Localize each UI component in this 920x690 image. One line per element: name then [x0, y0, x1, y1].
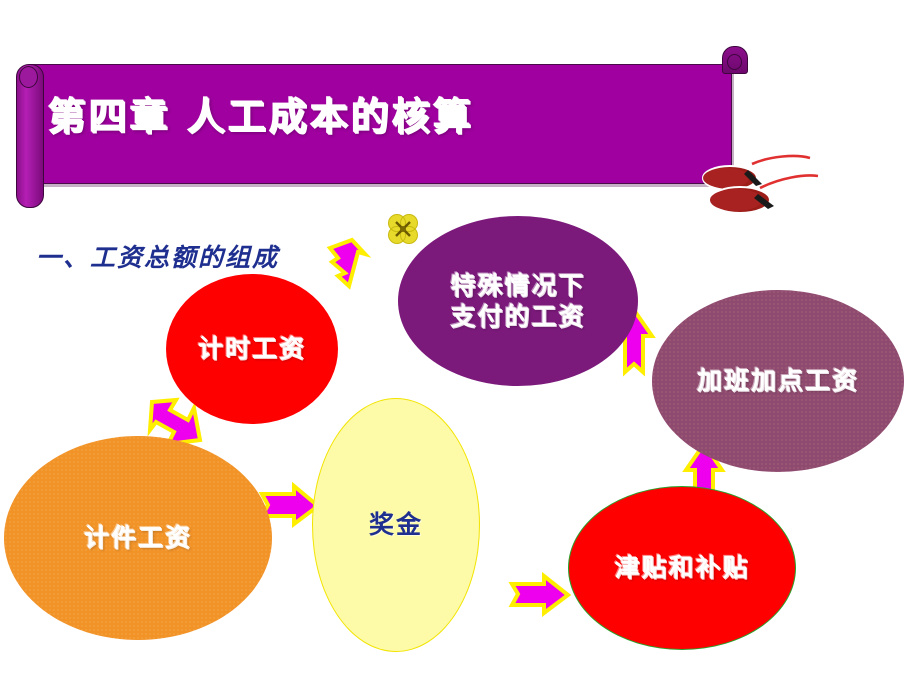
node-bonus[interactable]: 奖金	[312, 398, 480, 652]
node-hourly-wage-label: 计时工资	[198, 333, 306, 364]
title-banner: 第四章 人工成本的核算	[8, 58, 750, 190]
node-allowance-subsidy[interactable]: 津贴和补贴	[568, 486, 796, 650]
slide-canvas: 第四章 人工成本的核算 一、工资总额的组成	[0, 0, 920, 690]
arrow-jiangjin-to-jintie	[512, 576, 568, 613]
page-title: 第四章 人工成本的核算	[48, 86, 474, 141]
node-allowance-subsidy-label: 津贴和补贴	[614, 552, 749, 583]
node-hourly-wage[interactable]: 计时工资	[166, 274, 338, 424]
node-overtime-wage[interactable]: 加班加点工资	[652, 290, 904, 472]
node-special-circumstance-wage-label: 特殊情况下 支付的工资	[450, 270, 585, 333]
section-heading: 一、工资总额的组成	[36, 238, 279, 274]
node-piecework-wage-label: 计件工资	[84, 522, 192, 553]
node-special-circumstance-wage[interactable]: 特殊情况下 支付的工资	[398, 216, 638, 386]
node-overtime-wage-label: 加班加点工资	[697, 365, 859, 396]
arrow-heading-to-jishi	[330, 240, 365, 286]
scroll-knob-curl-icon	[727, 54, 742, 70]
cherry-seal-icon	[700, 154, 820, 224]
scroll-roll-curl-icon	[19, 66, 38, 88]
node-bonus-label: 奖金	[369, 509, 423, 540]
node-piecework-wage[interactable]: 计件工资	[4, 436, 272, 640]
four-petal-flower-icon	[386, 212, 420, 246]
arrow-jijian-to-jiangjin	[262, 486, 318, 524]
